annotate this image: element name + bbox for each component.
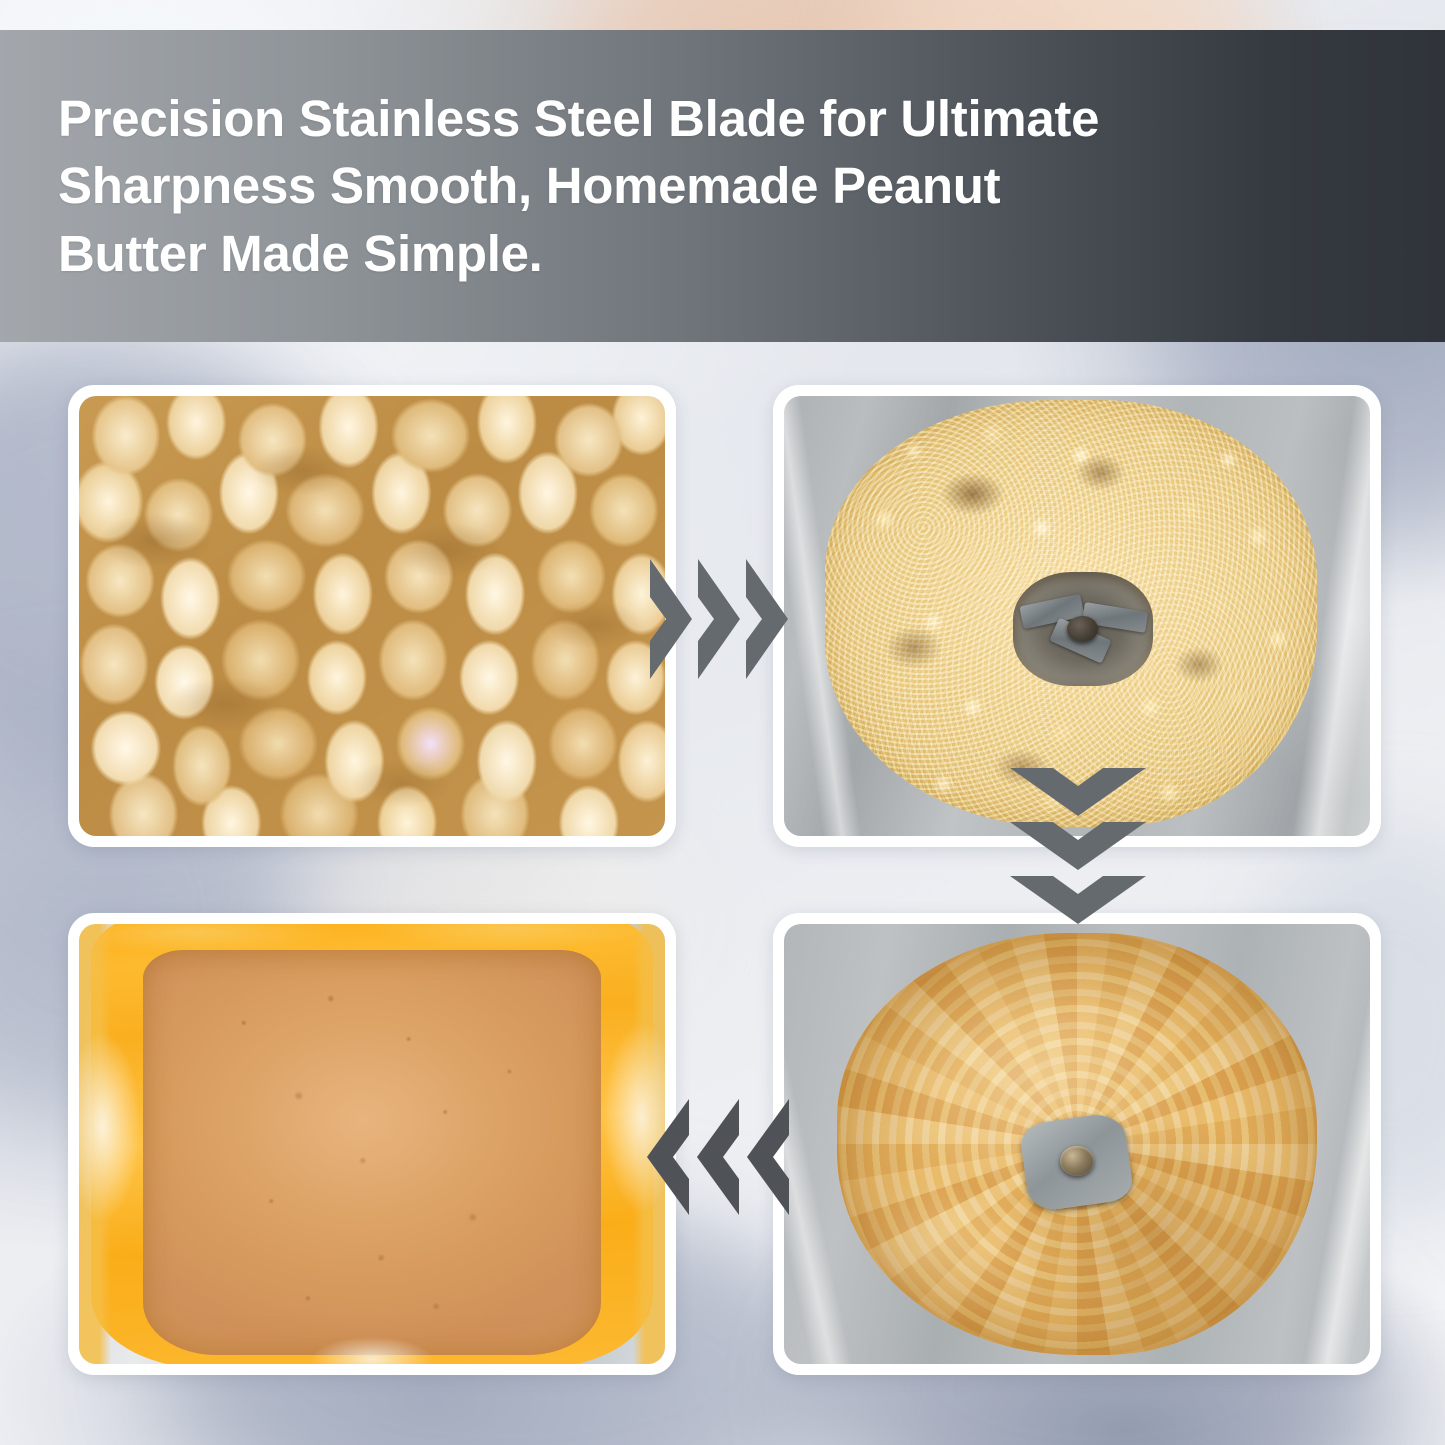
panel-image-frame xyxy=(784,924,1370,1364)
chevron-right-icon xyxy=(648,557,694,681)
stainless-steel-blade-icon xyxy=(1018,581,1147,669)
chevron-right-icon xyxy=(744,557,790,681)
stainless-steel-blade-icon xyxy=(1024,1118,1129,1206)
panel-image-frame xyxy=(79,924,665,1364)
chevron-left-icon xyxy=(743,1097,791,1217)
arrow-right-peanuts-to-grind xyxy=(648,557,790,681)
blade-hub xyxy=(1060,1146,1094,1176)
page-title: Precision Stainless Steel Blade for Ulti… xyxy=(58,85,1099,287)
title-line-2: Sharpness Smooth, Homemade Peanut xyxy=(58,152,1099,219)
infographic-root: Precision Stainless Steel Blade for Ulti… xyxy=(0,0,1445,1445)
chevron-down-icon xyxy=(1008,874,1148,926)
chevron-down-icon xyxy=(1008,820,1148,872)
title-line-3: Butter Made Simple. xyxy=(58,220,1099,287)
panel-smooth-peanut-butter xyxy=(68,913,676,1375)
chevron-left-icon xyxy=(643,1097,691,1217)
jar-edge-highlight xyxy=(79,924,665,1364)
chevron-right-icon xyxy=(696,557,742,681)
panel-image-frame xyxy=(79,396,665,836)
panel-creamy-peanut-butter xyxy=(773,913,1381,1375)
chevron-down-icon xyxy=(1008,766,1148,818)
chevron-left-icon xyxy=(693,1097,741,1217)
arrow-left-creamy-to-smooth xyxy=(643,1097,791,1217)
arrow-down-grind-to-creamy xyxy=(1008,766,1148,926)
panel-raw-peanuts xyxy=(68,385,676,847)
header-banner: Precision Stainless Steel Blade for Ulti… xyxy=(0,30,1445,342)
peanut-shadow-overlay xyxy=(79,396,665,836)
title-line-1: Precision Stainless Steel Blade for Ulti… xyxy=(58,85,1099,152)
